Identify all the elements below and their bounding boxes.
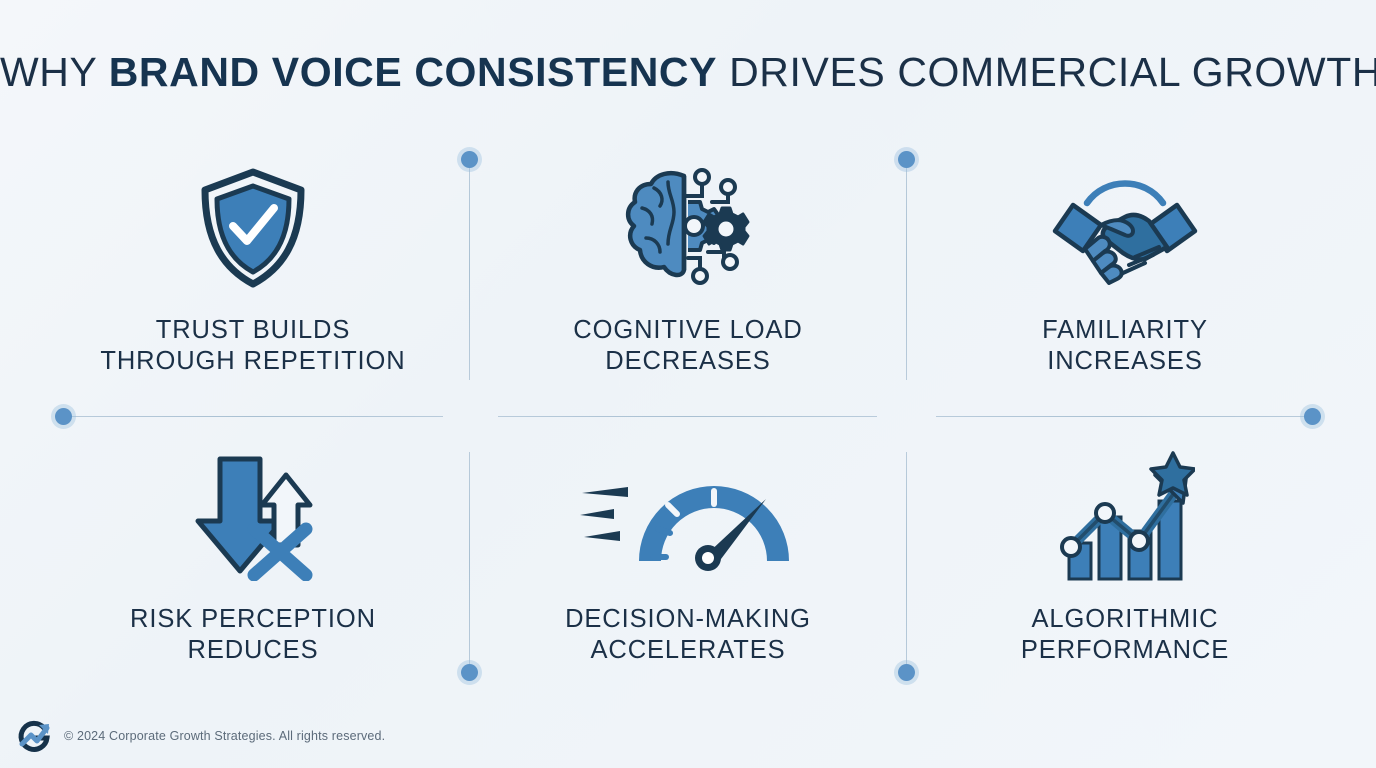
cell-cognitive-load-decreases: COGNITIVE LOAD DECREASES: [478, 163, 898, 377]
cell-label: COGNITIVE LOAD DECREASES: [478, 315, 898, 377]
speedometer-icon: [478, 452, 898, 582]
cell-label: ALGORITHMIC PERFORMANCE: [915, 604, 1335, 666]
cell-familiarity-increases: FAMILIARITY INCREASES: [915, 163, 1335, 377]
divider-vertical-left-lower: [469, 452, 470, 670]
divider-horizontal-center: [498, 416, 877, 417]
footer-copyright: © 2024 Corporate Growth Strategies. All …: [64, 729, 385, 743]
cell-risk-perception-reduces: RISK PERCEPTION REDUCES: [43, 452, 463, 666]
cell-label: DECISION-MAKING ACCELERATES: [478, 604, 898, 666]
divider-vertical-left: [469, 162, 470, 380]
cell-label-line2: THROUGH REPETITION: [43, 346, 463, 377]
cell-trust-builds-through-repetition: TRUST BUILDS THROUGH REPETITION: [43, 163, 463, 377]
page-title: WHY BRAND VOICE CONSISTENCY DRIVES COMME…: [0, 46, 1376, 98]
handshake-icon: [915, 163, 1335, 293]
cell-label-line1: ALGORITHMIC: [915, 604, 1335, 635]
node-dot-bottom-left: [461, 664, 478, 681]
cell-algorithmic-performance: ALGORITHMIC PERFORMANCE: [915, 452, 1335, 666]
cell-label-line1: RISK PERCEPTION: [43, 604, 463, 635]
divider-vertical-right-lower: [906, 452, 907, 670]
growth-arrow-logo: [14, 716, 54, 756]
page-title-trail: DRIVES COMMERCIAL GROWTH: [717, 49, 1376, 95]
cell-label-line2: DECREASES: [478, 346, 898, 377]
node-dot-top-left: [461, 151, 478, 168]
infographic-canvas: WHY BRAND VOICE CONSISTENCY DRIVES COMME…: [0, 0, 1376, 768]
footer: © 2024 Corporate Growth Strategies. All …: [14, 716, 385, 756]
node-dot-bottom-right: [898, 664, 915, 681]
cell-label-line1: DECISION-MAKING: [478, 604, 898, 635]
down-arrow-cross-icon: [43, 452, 463, 582]
divider-horizontal-left: [66, 416, 443, 417]
page-title-emphasis: BRAND VOICE CONSISTENCY: [109, 49, 717, 95]
cell-label: RISK PERCEPTION REDUCES: [43, 604, 463, 666]
cell-label-line2: REDUCES: [43, 635, 463, 666]
cell-label: FAMILIARITY INCREASES: [915, 315, 1335, 377]
brain-circuit-gear-icon: [478, 163, 898, 293]
divider-vertical-right: [906, 162, 907, 380]
cell-label-line2: INCREASES: [915, 346, 1335, 377]
cell-label-line2: PERFORMANCE: [915, 635, 1335, 666]
cell-decision-making-accelerates: DECISION-MAKING ACCELERATES: [478, 452, 898, 666]
shield-check-icon: [43, 163, 463, 293]
node-dot-mid-left: [55, 408, 72, 425]
node-dot-top-right: [898, 151, 915, 168]
cell-label: TRUST BUILDS THROUGH REPETITION: [43, 315, 463, 377]
node-dot-mid-right: [1304, 408, 1321, 425]
divider-horizontal-right: [936, 416, 1310, 417]
cell-label-line1: FAMILIARITY: [915, 315, 1335, 346]
cell-label-line2: ACCELERATES: [478, 635, 898, 666]
cell-label-line1: TRUST BUILDS: [43, 315, 463, 346]
growth-chart-star-icon: [915, 452, 1335, 582]
cell-label-line1: COGNITIVE LOAD: [478, 315, 898, 346]
page-title-lead: WHY: [0, 49, 109, 95]
